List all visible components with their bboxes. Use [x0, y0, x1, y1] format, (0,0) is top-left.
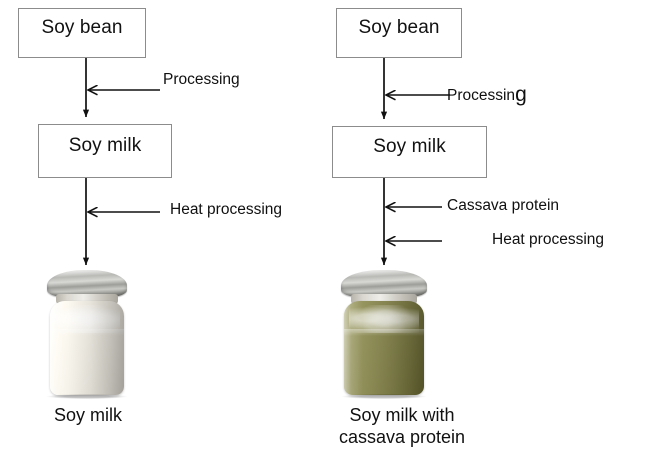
label-left-heat-processing: Heat processing	[170, 202, 282, 218]
box-left-soy-milk[interactable]: Soy milk	[38, 124, 172, 178]
jar-gloss-left	[50, 301, 124, 395]
caption-soy-milk-cassava: Soy milk with cassava protein	[302, 404, 502, 448]
jar-shadow-right	[342, 394, 427, 399]
jar-lid-right	[341, 270, 427, 297]
jar-shadow-left	[47, 394, 126, 399]
box-right-soy-milk-label: Soy milk	[373, 136, 446, 158]
caption-soy-milk-line-1: Soy milk	[18, 404, 158, 426]
jar-soy-milk	[44, 270, 130, 396]
label-right-processing-suffix: g	[515, 83, 527, 106]
box-left-soy-bean[interactable]: Soy bean	[18, 8, 146, 58]
label-right-cassava-protein: Cassava protein	[447, 198, 559, 214]
box-left-soy-bean-label: Soy bean	[41, 17, 122, 39]
diagram-canvas: Soy bean Soy milk Processing Heat proces…	[0, 0, 650, 450]
box-right-soy-bean-label: Soy bean	[358, 17, 439, 39]
jar-soy-milk-cassava	[338, 270, 430, 396]
jar-gloss-right	[344, 301, 424, 395]
label-left-processing: Processing	[163, 72, 240, 88]
box-right-soy-milk[interactable]: Soy milk	[332, 126, 487, 178]
jar-body-right	[344, 301, 424, 395]
caption-soy-milk: Soy milk	[18, 404, 158, 426]
label-right-heat-processing: Heat processing	[492, 232, 604, 248]
caption-soy-milk-cassava-line-1: Soy milk with	[302, 404, 502, 426]
box-left-soy-milk-label: Soy milk	[69, 135, 142, 157]
box-right-soy-bean[interactable]: Soy bean	[336, 8, 462, 58]
label-right-processing-prefix: Processin	[447, 87, 515, 104]
jar-lid-left	[47, 270, 127, 297]
label-right-processing: Processing	[447, 88, 527, 104]
jar-body-left	[50, 301, 124, 395]
caption-soy-milk-cassava-line-2: cassava protein	[302, 426, 502, 448]
